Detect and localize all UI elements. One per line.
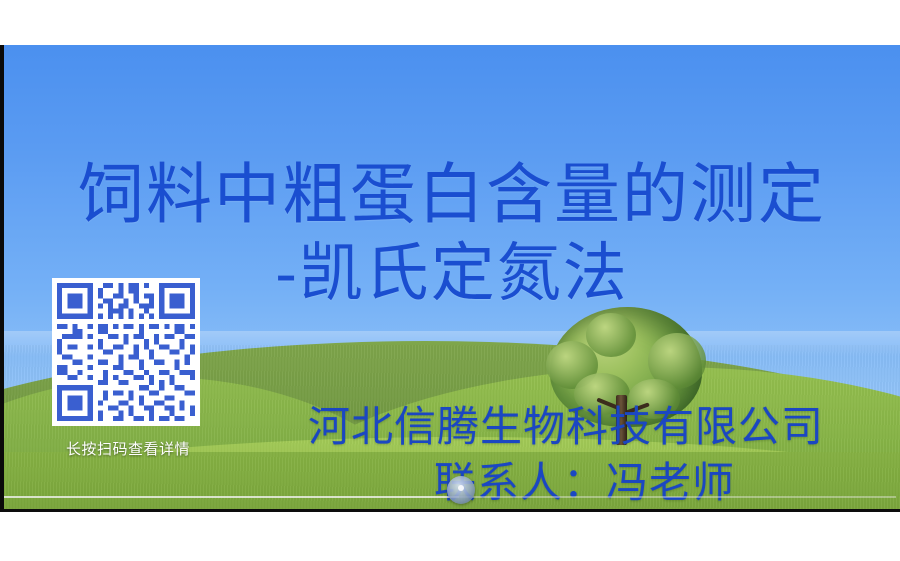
page-blank-top: [0, 0, 900, 45]
tree-leaf-blob: [586, 313, 636, 357]
page-blank-bottom: [0, 512, 900, 561]
video-progress-bar[interactable]: [4, 496, 896, 498]
qr-code-image[interactable]: [52, 278, 200, 426]
video-progress-handle[interactable]: [447, 476, 475, 504]
video-frame: 饲料中粗蛋白含量的测定 -凯氏定氮法 河北信腾生物科技有限公司 联系人：冯老师 …: [4, 45, 900, 512]
video-bottom-border: [0, 509, 900, 512]
qr-code-block[interactable]: 长按扫码查看详情: [52, 278, 204, 458]
slide-title-main: 饲料中粗蛋白含量的测定: [4, 157, 900, 233]
qr-caption-text: 长按扫码查看详情: [52, 440, 204, 458]
video-left-border: [0, 45, 4, 512]
screenshot-root: 饲料中粗蛋白含量的测定 -凯氏定氮法 河北信腾生物科技有限公司 联系人：冯老师 …: [0, 0, 900, 561]
company-name-text: 河北信腾生物科技有限公司: [308, 403, 824, 451]
progress-handle-dot: [458, 485, 464, 491]
video-progress-fill: [4, 496, 459, 498]
video-player[interactable]: 饲料中粗蛋白含量的测定 -凯氏定氮法 河北信腾生物科技有限公司 联系人：冯老师 …: [0, 45, 900, 512]
contact-person-text: 联系人：冯老师: [434, 459, 735, 507]
